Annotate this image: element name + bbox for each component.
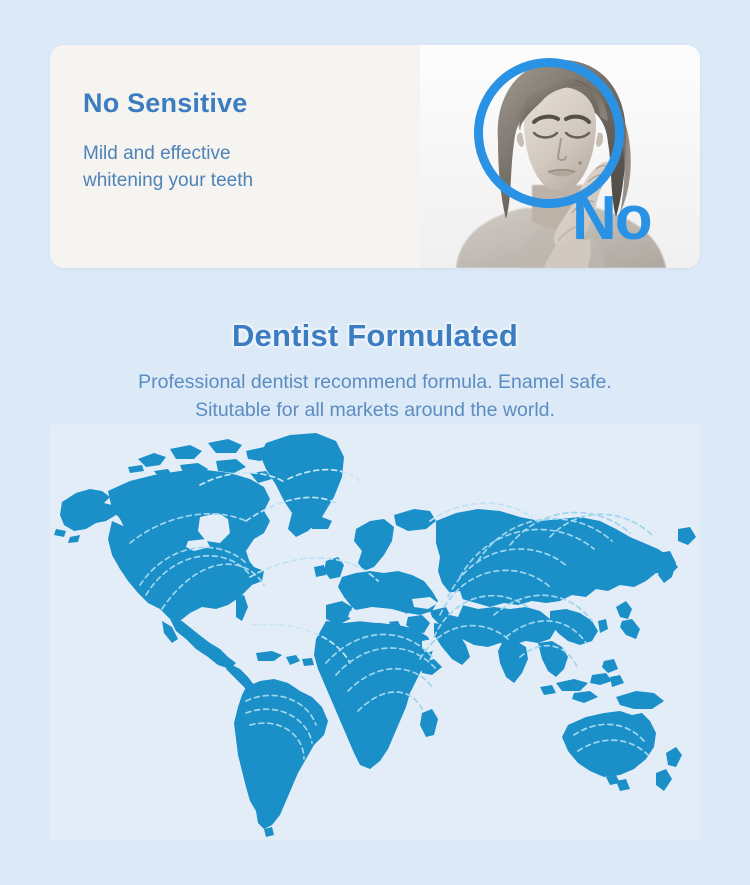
world-map-graphic xyxy=(50,425,700,840)
card-title: No Sensitive xyxy=(83,89,420,119)
no-sensitive-card: No Sensitive Mild and effective whitenin… xyxy=(50,45,700,268)
card-text-block: No Sensitive Mild and effective whitenin… xyxy=(50,45,420,268)
section-subtitle-line-2: Situtable for all markets around the wor… xyxy=(0,396,750,424)
tooth-pain-photo-image xyxy=(420,45,700,268)
tooth-pain-photo: No xyxy=(420,45,700,268)
section-subtitle-line-1: Professional dentist recommend formula. … xyxy=(0,368,750,396)
card-subtitle-line-1: Mild and effective xyxy=(83,141,420,168)
world-map xyxy=(50,425,700,840)
section-subtitle: Professional dentist recommend formula. … xyxy=(0,368,750,425)
card-subtitle-line-2: whitening your teeth xyxy=(83,168,420,195)
card-subtitle: Mild and effective whitening your teeth xyxy=(83,141,420,195)
section-heading: Dentist Formulated xyxy=(0,318,750,354)
